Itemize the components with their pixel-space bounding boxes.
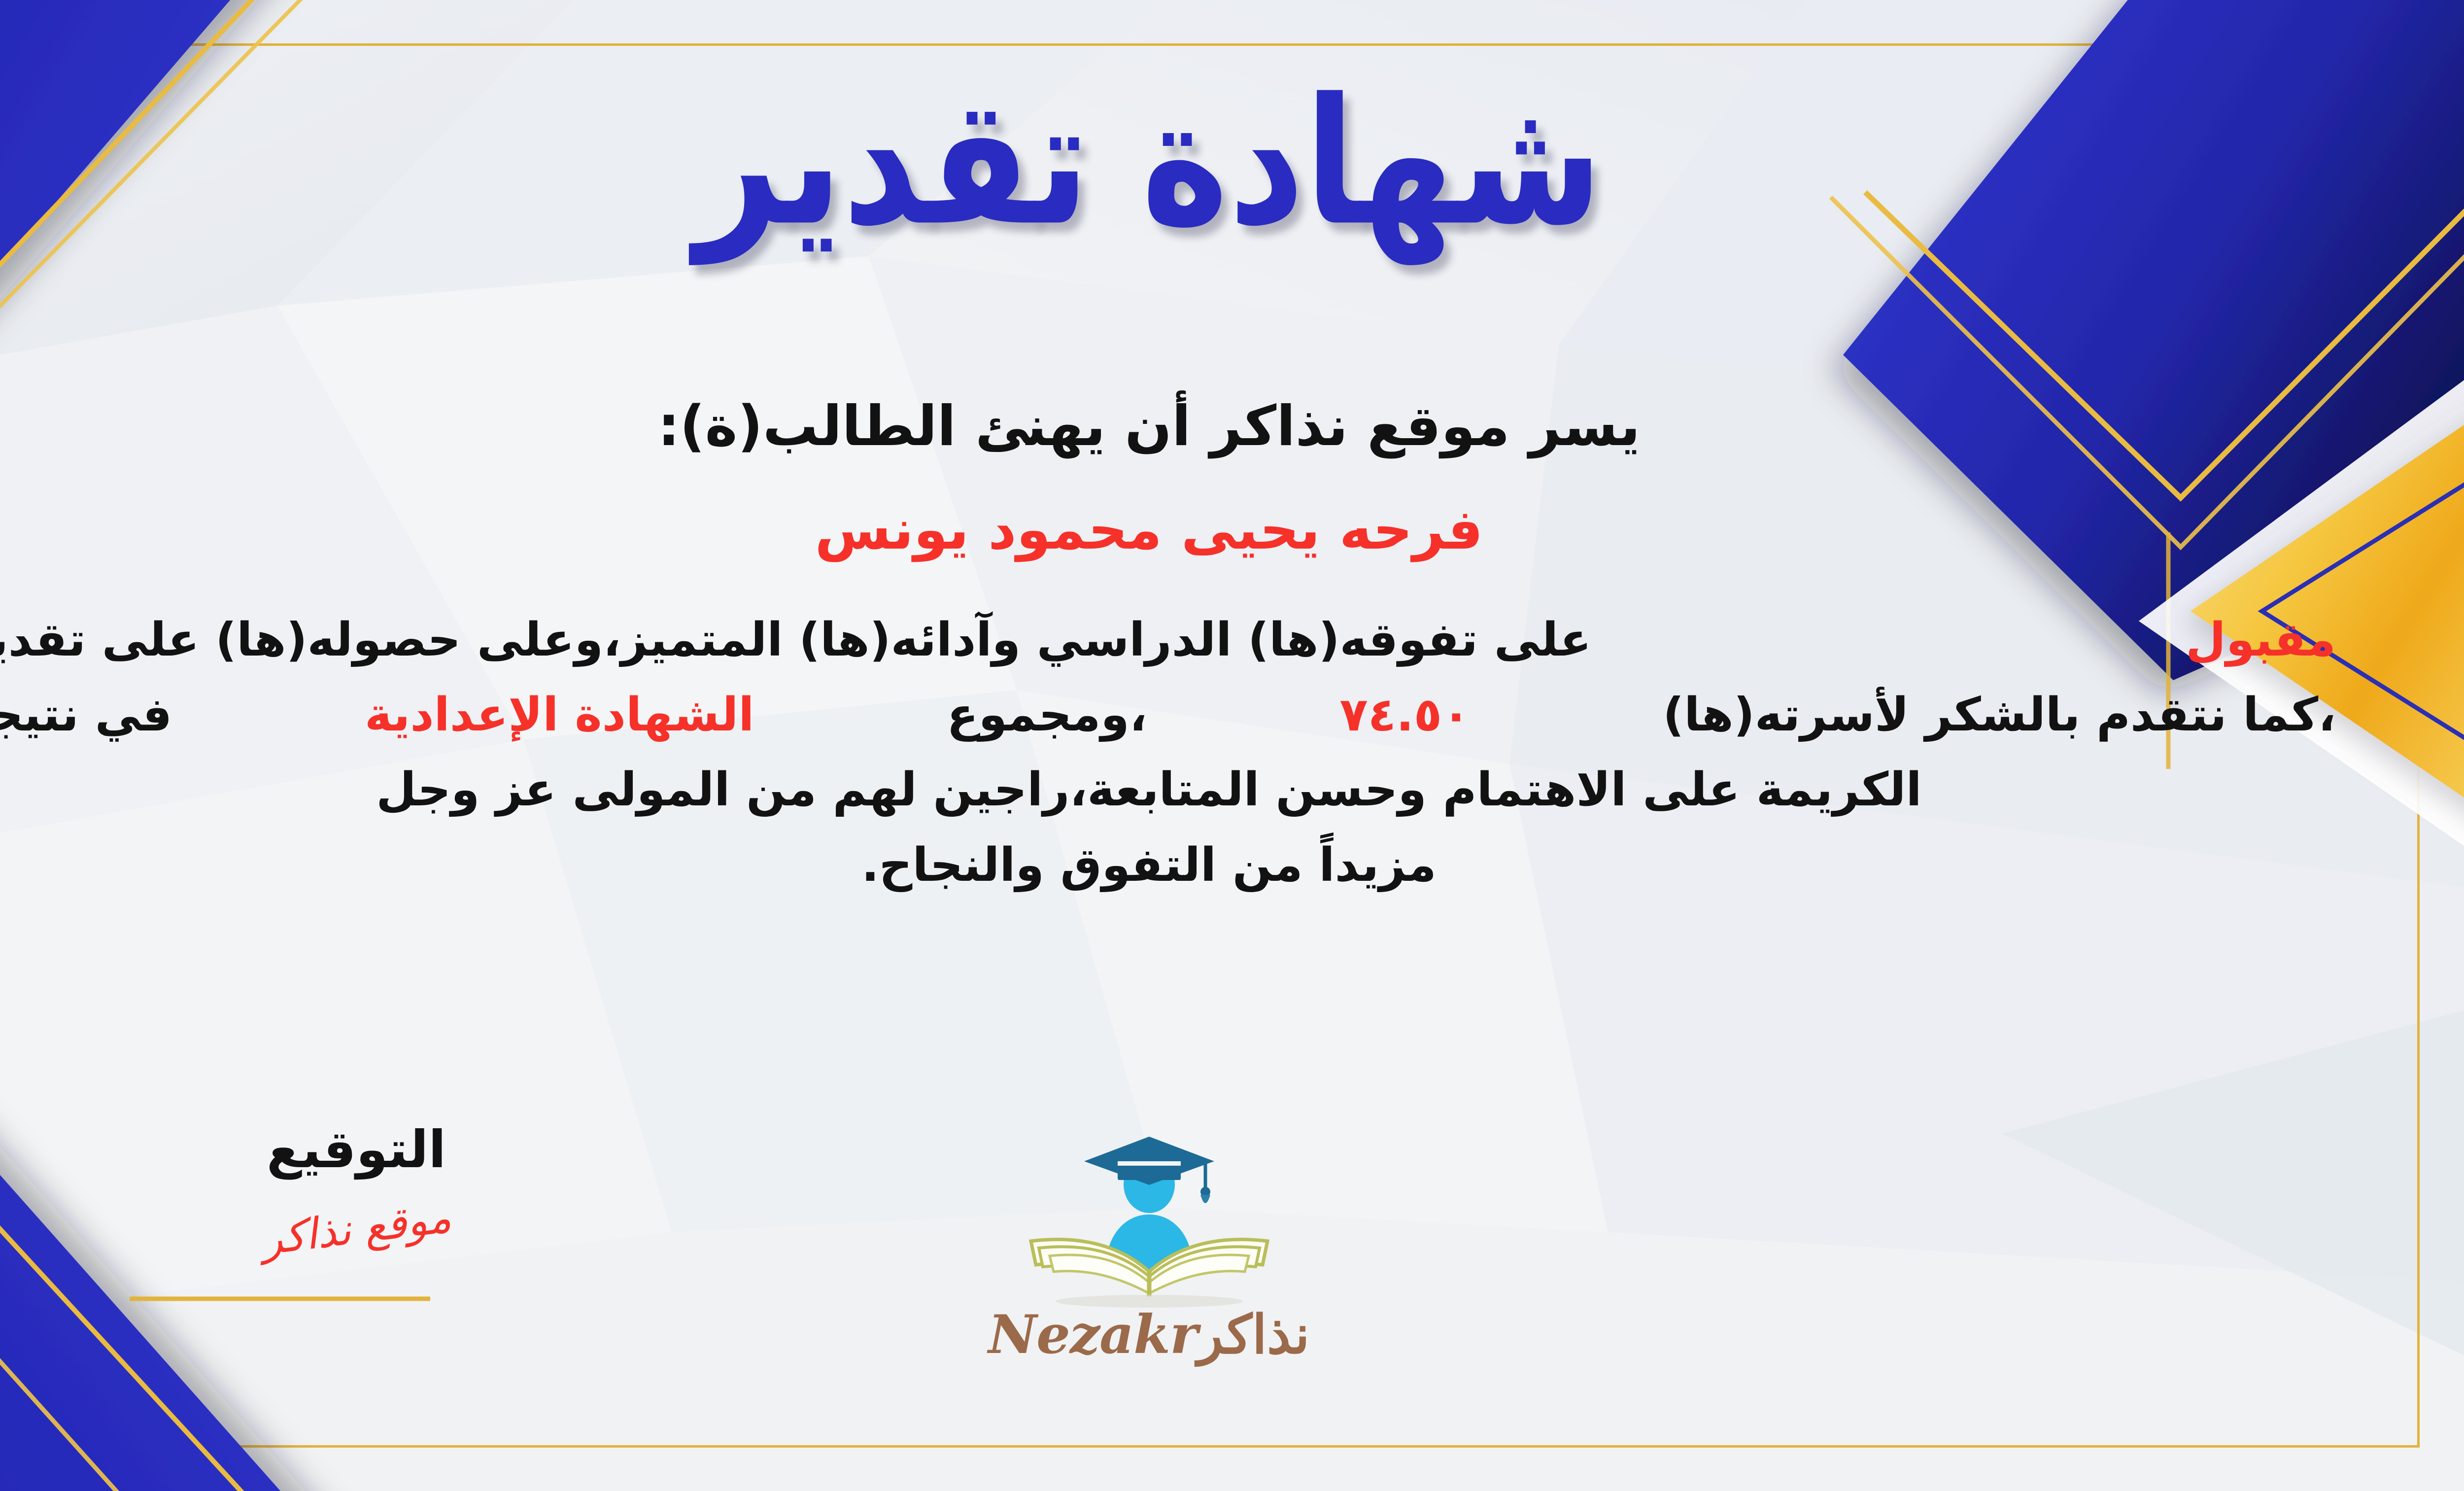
citation-line-2-mid: ،ومجموع [947, 678, 1147, 753]
citation-line-1: مقبول على تفوقه(ها) الدراسي وآدائه(ها) ا… [0, 603, 2336, 678]
grade-value: مقبول [2186, 603, 2336, 678]
brand-logo-latin: Nezakr [988, 1304, 1197, 1366]
total-score-value: ٧٤.٥٠ [1339, 678, 1470, 753]
citation-line-2-tail: ،كما نتقدم بالشكر لأسرته(ها) [1663, 678, 2336, 753]
brand-logo-text: نذاكرNezakr [932, 1308, 1366, 1361]
citation-line-2-head: في نتيجة [0, 678, 172, 753]
citation-paragraph: مقبول على تفوقه(ها) الدراسي وآدائه(ها) ا… [0, 603, 2336, 903]
signature-label: التوقيع [169, 1124, 544, 1175]
graduate-book-icon [1001, 1118, 1297, 1315]
certificate-title-area: شهادة تقدير [0, 44, 2464, 281]
intro-line: يسر موقع نذاكر أن يهنئ الطالب(ة): [0, 389, 2336, 464]
brand-logo-arabic: نذاكر [1198, 1304, 1310, 1366]
citation-line-3: الكريمة على الاهتمام وحسن المتابعة،راجين… [0, 753, 2336, 828]
exam-name-value: الشهادة الإعدادية [365, 678, 754, 753]
citation-line-2: ،كما نتقدم بالشكر لأسرته(ها) ٧٤.٥٠ ،ومجم… [0, 678, 2336, 753]
citation-line-4: مزيداً من التفوق والنجاح. [0, 828, 2336, 903]
certificate-page: شهادة تقدير يسر موقع نذاكر أن يهنئ الطال… [0, 0, 2464, 1491]
brand-logo: نذاكرNezakr [932, 1118, 1366, 1361]
signature-block: التوقيع موقع نذاكر [169, 1124, 544, 1252]
page-title: شهادة تقدير [695, 75, 1603, 250]
citation-line-1-text: على تفوقه(ها) الدراسي وآدائه(ها) المتميز… [0, 603, 1591, 678]
certificate-body: يسر موقع نذاكر أن يهنئ الطالب(ة): فرحه ي… [0, 389, 2336, 903]
student-name: فرحه يحيى محمود يونس [0, 494, 2336, 566]
